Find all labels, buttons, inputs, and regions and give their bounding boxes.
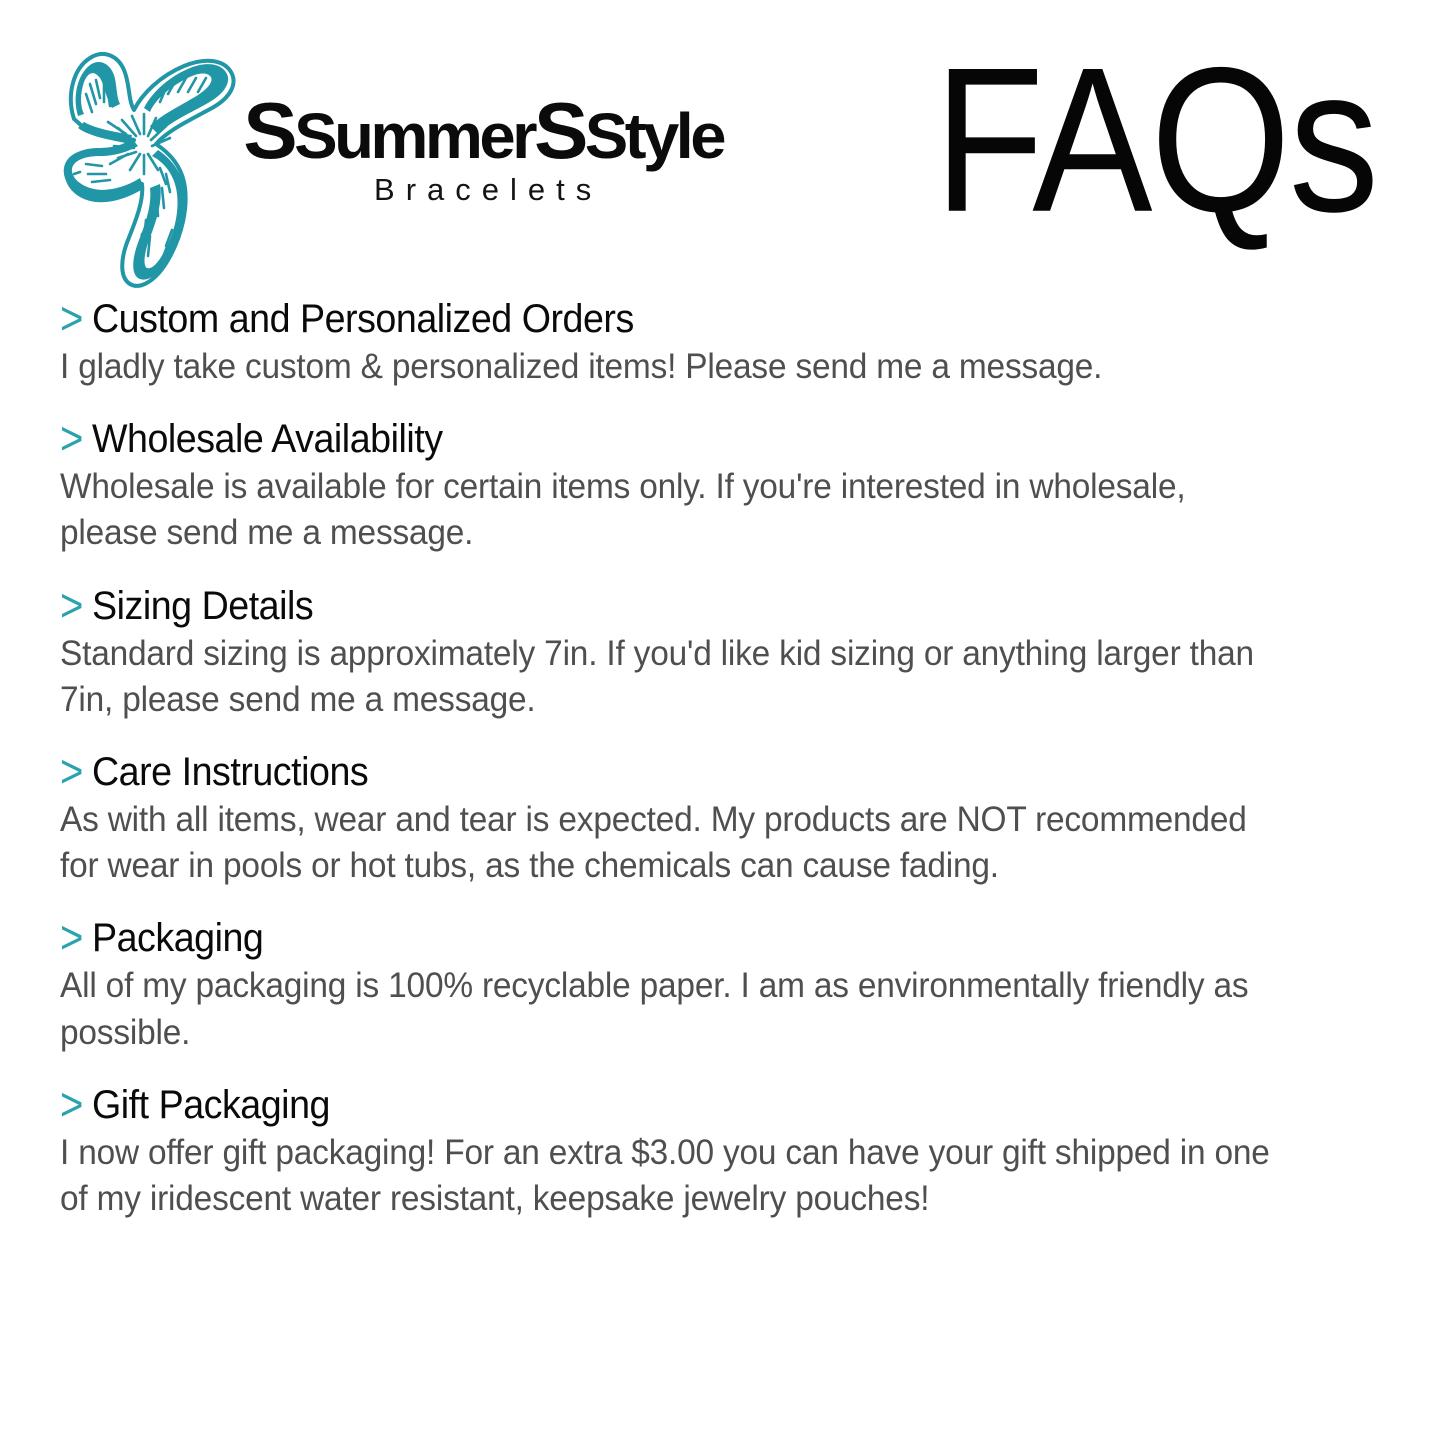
faq-body: As with all items, wear and tear is expe… xyxy=(60,797,1287,889)
faq-heading-label: Care Instructions xyxy=(92,749,368,795)
faq-heading[interactable]: > Packaging xyxy=(60,915,1383,961)
faq-heading-label: Wholesale Availability xyxy=(92,416,443,462)
page-title: FAQs xyxy=(934,36,1377,242)
chevron-right-icon: > xyxy=(60,749,83,795)
faq-list: > Custom and Personalized Orders I gladl… xyxy=(0,296,1445,1222)
faq-heading[interactable]: > Care Instructions xyxy=(60,749,1383,795)
brand-subtitle: Bracelets xyxy=(374,172,602,208)
faq-heading-label: Custom and Personalized Orders xyxy=(92,296,634,342)
brand-wordmark-style: Style xyxy=(585,100,723,172)
faq-body: I now offer gift packaging! For an extra… xyxy=(60,1130,1287,1222)
brand-wordmark: SSummerSStyle xyxy=(243,94,723,168)
faq-heading[interactable]: > Gift Packaging xyxy=(60,1082,1383,1128)
faq-heading-label: Gift Packaging xyxy=(92,1082,330,1128)
faq-body: Standard sizing is approximately 7in. If… xyxy=(60,631,1287,723)
brand-wordmark-s2: S xyxy=(534,86,585,175)
faq-heading[interactable]: > Custom and Personalized Orders xyxy=(60,296,1383,342)
faq-item: > Care Instructions As with all items, w… xyxy=(60,749,1383,889)
faq-item: > Packaging All of my packaging is 100% … xyxy=(60,915,1383,1055)
faq-heading[interactable]: > Wholesale Availability xyxy=(60,416,1383,462)
brand-logo: SSummerSStyle Bracelets xyxy=(56,24,718,292)
brand-wordmark-group: SSummerSStyle Bracelets xyxy=(248,94,718,208)
faq-body: I gladly take custom & personalized item… xyxy=(60,344,1287,390)
faq-item: > Wholesale Availability Wholesale is av… xyxy=(60,416,1383,556)
chevron-right-icon: > xyxy=(60,1082,83,1128)
faq-item: > Gift Packaging I now offer gift packag… xyxy=(60,1082,1383,1222)
brand-wordmark-s1: S xyxy=(243,86,294,175)
faq-item: > Custom and Personalized Orders I gladl… xyxy=(60,296,1383,390)
faq-body: All of my packaging is 100% recyclable p… xyxy=(60,963,1287,1055)
page-header: SSummerSStyle Bracelets FAQs xyxy=(0,0,1445,290)
chevron-right-icon: > xyxy=(60,583,83,629)
faq-heading-label: Packaging xyxy=(92,915,263,961)
chevron-right-icon: > xyxy=(60,416,83,462)
brand-wordmark-summer: Summer xyxy=(294,100,534,172)
starfish-icon xyxy=(56,24,246,292)
faq-body: Wholesale is available for certain items… xyxy=(60,464,1287,556)
faq-item: > Sizing Details Standard sizing is appr… xyxy=(60,583,1383,723)
faq-heading-label: Sizing Details xyxy=(92,583,313,629)
chevron-right-icon: > xyxy=(60,296,83,342)
chevron-right-icon: > xyxy=(60,915,83,961)
faq-heading[interactable]: > Sizing Details xyxy=(60,583,1383,629)
